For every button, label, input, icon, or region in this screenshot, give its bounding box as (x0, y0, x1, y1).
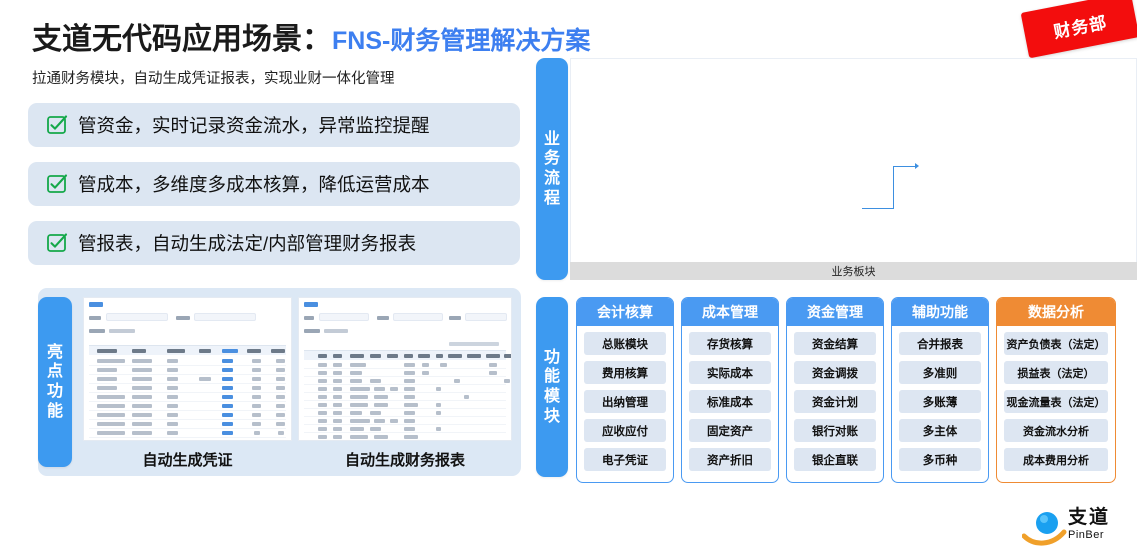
module-item[interactable]: 多币种 (899, 448, 981, 471)
module-item[interactable]: 多准则 (899, 361, 981, 384)
module-item[interactable]: 多账薄 (899, 390, 981, 413)
module-column-analytics-title: 数据分析 (997, 298, 1115, 326)
module-item[interactable]: 成本费用分析 (1004, 448, 1108, 471)
module-item[interactable]: 资金调拨 (794, 361, 876, 384)
faux-label (89, 329, 105, 333)
module-column-analytics: 数据分析 资产负债表（法定） 损益表（法定） 现金流量表（法定） 资金流水分析 … (996, 297, 1116, 483)
faux-table-row (304, 417, 506, 425)
feature-bullet-1: 管资金，实时记录资金流水，异常监控提醒 (28, 103, 520, 147)
faux-input (319, 313, 369, 321)
faux-tab (89, 302, 103, 307)
faux-table-row (89, 420, 286, 429)
arrow-settlement-to-ledger-h (862, 208, 894, 209)
module-item[interactable]: 实际成本 (689, 361, 771, 384)
highlight-side-label: 亮点功能 (38, 297, 72, 467)
faux-label (109, 329, 135, 333)
faux-toolbar (449, 342, 499, 346)
poster-root: 支道无代码应用场景：FNS-财务管理解决方案 拉通财务模块，自动生成凭证报表，实… (0, 0, 1137, 552)
faux-label (304, 316, 314, 320)
faux-table-header (89, 345, 286, 355)
faux-table-row (89, 366, 286, 375)
screenshot-voucher-caption: 自动生成凭证 (83, 449, 292, 470)
faux-label (324, 329, 348, 333)
faux-table-row (89, 393, 286, 402)
faux-table-row (304, 401, 506, 409)
page-subtitle: 拉通财务模块，自动生成凭证报表，实现业财一体化管理 (32, 67, 395, 88)
faux-table-row (304, 393, 506, 401)
faux-table-row (304, 369, 506, 377)
faux-label (377, 316, 389, 320)
faux-input (393, 313, 443, 321)
module-item[interactable]: 资金流水分析 (1004, 419, 1108, 442)
module-item[interactable]: 存货核算 (689, 332, 771, 355)
module-item[interactable]: 标准成本 (689, 390, 771, 413)
module-column-accounting-title: 会计核算 (577, 298, 673, 326)
diagram-footer-label: 业务板块 (570, 262, 1137, 280)
module-column-fund-title: 资金管理 (787, 298, 883, 326)
module-item[interactable]: 合并报表 (899, 332, 981, 355)
feature-bullet-2-text: 管成本，多维度多成本核算，降低运营成本 (78, 171, 430, 197)
module-item[interactable]: 固定资产 (689, 419, 771, 442)
feature-bullet-3: 管报表，自动生成法定/内部管理财务报表 (28, 221, 520, 265)
module-item[interactable]: 现金流量表（法定） (1004, 390, 1108, 413)
faux-table-row (304, 433, 506, 441)
module-column-auxiliary-items: 合并报表 多准则 多账薄 多主体 多币种 (892, 326, 988, 471)
arrow-into-ledger (893, 166, 917, 167)
module-item[interactable]: 损益表（法定） (1004, 361, 1108, 384)
module-item[interactable]: 资产折旧 (689, 448, 771, 471)
module-column-cost: 成本管理 存货核算 实际成本 标准成本 固定资产 资产折旧 (681, 297, 779, 483)
check-box-icon (46, 173, 68, 195)
corner-badge-label: 财务部 (1051, 8, 1109, 43)
module-item[interactable]: 应收应付 (584, 419, 666, 442)
faux-label (304, 329, 320, 333)
module-column-auxiliary-title: 辅助功能 (892, 298, 988, 326)
faux-table-row (89, 411, 286, 420)
arrow-settlement-to-ledger-v (893, 166, 894, 208)
module-column-analytics-items: 资产负债表（法定） 损益表（法定） 现金流量表（法定） 资金流水分析 成本费用分… (997, 326, 1115, 471)
module-column-fund-items: 资金结算 资金调拨 资金计划 银行对账 银企直联 (787, 326, 883, 471)
corner-badge-department: 财务部 (1021, 0, 1137, 58)
faux-table-row (89, 402, 286, 411)
faux-tab (304, 302, 318, 307)
module-column-cost-title: 成本管理 (682, 298, 778, 326)
check-box-icon (46, 114, 68, 136)
faux-table-header (304, 350, 506, 360)
page-title-main: 支道无代码应用场景： (32, 23, 332, 56)
page-title-accent: FNS-财务管理解决方案 (332, 27, 590, 55)
faux-table-row (89, 429, 286, 438)
module-column-accounting-items: 总账模块 费用核算 出纳管理 应收应付 电子凭证 (577, 326, 673, 471)
faux-label (89, 316, 101, 320)
faux-input (465, 313, 507, 321)
module-column-auxiliary: 辅助功能 合并报表 多准则 多账薄 多主体 多币种 (891, 297, 989, 483)
module-column-accounting: 会计核算 总账模块 费用核算 出纳管理 应收应付 电子凭证 (576, 297, 674, 483)
module-item[interactable]: 电子凭证 (584, 448, 666, 471)
feature-bullet-3-text: 管报表，自动生成法定/内部管理财务报表 (78, 230, 416, 256)
module-item[interactable]: 出纳管理 (584, 390, 666, 413)
faux-table-row (89, 375, 286, 384)
module-item[interactable]: 总账模块 (584, 332, 666, 355)
faux-table-row (304, 385, 506, 393)
diagram-side-label: 业务流程 (536, 58, 568, 280)
brand-name-en: PinBer (1068, 529, 1110, 541)
module-item[interactable]: 费用核算 (584, 361, 666, 384)
faux-table-row (89, 357, 286, 366)
screenshot-voucher (83, 297, 292, 441)
check-box-icon (46, 232, 68, 254)
brand-logo-text: 支道 PinBer (1068, 508, 1110, 541)
faux-table-report (299, 298, 511, 440)
module-item[interactable]: 银企直联 (794, 448, 876, 471)
faux-table-row (304, 377, 506, 385)
module-item[interactable]: 资金计划 (794, 390, 876, 413)
module-item[interactable]: 多主体 (899, 419, 981, 442)
module-column-fund: 资金管理 资金结算 资金调拨 资金计划 银行对账 银企直联 (786, 297, 884, 483)
faux-input (106, 313, 168, 321)
page-title: 支道无代码应用场景：FNS-财务管理解决方案 (32, 14, 590, 58)
business-flow-diagram: 管理会计 财务核算 预算管理 资金管理 资金账户管理 资金账户管理 现金流平衡管… (570, 58, 1137, 278)
feature-bullet-2: 管成本，多维度多成本核算，降低运营成本 (28, 162, 520, 206)
module-item[interactable]: 资产负债表（法定） (1004, 332, 1108, 355)
feature-bullet-1-text: 管资金，实时记录资金流水，异常监控提醒 (78, 112, 430, 138)
faux-table-row (304, 425, 506, 433)
faux-table-row (304, 409, 506, 417)
faux-table-row (304, 361, 506, 369)
faux-label (449, 316, 461, 320)
faux-label (176, 316, 190, 320)
arrow-head (915, 163, 919, 169)
module-column-cost-items: 存货核算 实际成本 标准成本 固定资产 资产折旧 (682, 326, 778, 471)
brand-name-cn: 支道 (1068, 508, 1110, 527)
faux-table-row (89, 384, 286, 393)
screenshot-financial-report (298, 297, 512, 441)
faux-table-voucher (84, 298, 291, 440)
module-item[interactable]: 银行对账 (794, 419, 876, 442)
screenshot-report-caption: 自动生成财务报表 (298, 449, 512, 470)
module-item[interactable]: 资金结算 (794, 332, 876, 355)
faux-input (194, 313, 256, 321)
modules-side-label: 功能模块 (536, 297, 568, 477)
